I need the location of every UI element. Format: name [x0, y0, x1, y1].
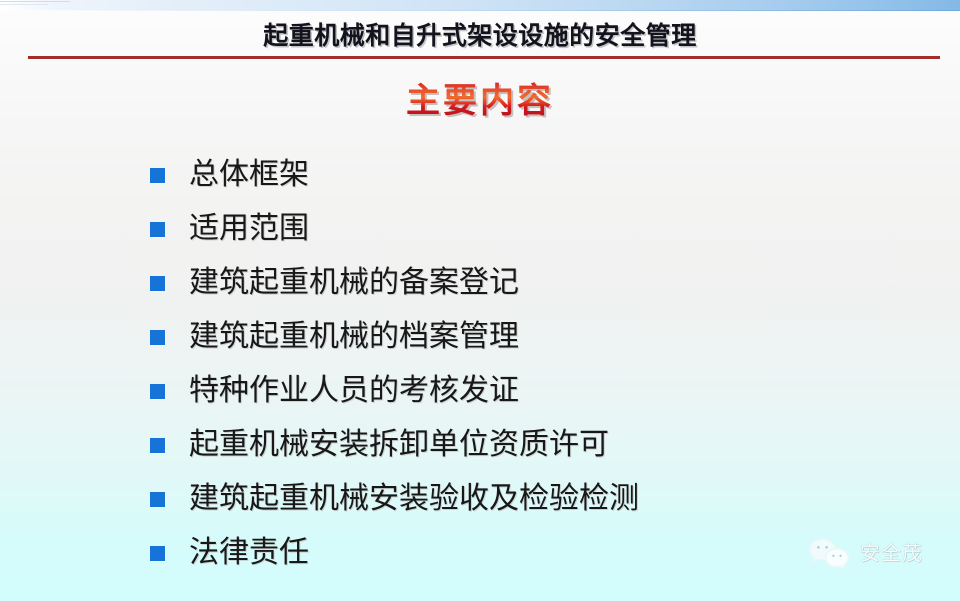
- list-item: 建筑起重机械安装验收及检验检测: [150, 472, 910, 526]
- square-bullet-icon: [150, 384, 165, 399]
- square-bullet-icon: [150, 546, 165, 561]
- slide-canvas: 起重机械和自升式架设设施的安全管理 主要内容 总体框架 适用范围 建筑起重机械的…: [0, 0, 960, 601]
- square-bullet-icon: [150, 492, 165, 507]
- square-bullet-icon: [150, 438, 165, 453]
- top-accent-bar: [0, 0, 960, 11]
- list-item-label: 特种作业人员的考核发证: [189, 373, 519, 409]
- slide-header-title: 起重机械和自升式架设设施的安全管理: [0, 22, 960, 52]
- list-item-label: 建筑起重机械安装验收及检验检测: [189, 481, 639, 517]
- list-item-label: 总体框架: [189, 157, 309, 193]
- top-accent-streak-secondary: [0, 4, 48, 5]
- square-bullet-icon: [150, 222, 165, 237]
- list-item: 特种作业人员的考核发证: [150, 364, 910, 418]
- wechat-icon: [806, 536, 852, 570]
- header-divider-rule: [28, 56, 940, 59]
- list-item: 起重机械安装拆卸单位资质许可: [150, 418, 910, 472]
- top-accent-streak: [0, 1, 70, 2]
- list-item: 总体框架: [150, 148, 910, 202]
- list-item-label: 起重机械安装拆卸单位资质许可: [189, 427, 609, 463]
- list-item-label: 适用范围: [189, 211, 309, 247]
- list-item-label: 法律责任: [189, 535, 309, 571]
- watermark-label: 安全茂: [860, 541, 923, 565]
- top-accent-underline: [0, 10, 960, 11]
- list-item: 建筑起重机械的备案登记: [150, 256, 910, 310]
- square-bullet-icon: [150, 168, 165, 183]
- content-outline-list: 总体框架 适用范围 建筑起重机械的备案登记 建筑起重机械的档案管理 特种作业人员…: [150, 148, 910, 580]
- list-item: 适用范围: [150, 202, 910, 256]
- list-item-label: 建筑起重机械的档案管理: [189, 319, 519, 355]
- square-bullet-icon: [150, 276, 165, 291]
- list-item-label: 建筑起重机械的备案登记: [189, 265, 519, 301]
- page-title: 主要内容: [0, 82, 960, 122]
- list-item: 建筑起重机械的档案管理: [150, 310, 910, 364]
- square-bullet-icon: [150, 330, 165, 345]
- wechat-watermark: 安全茂: [806, 536, 923, 570]
- list-item: 法律责任: [150, 526, 910, 580]
